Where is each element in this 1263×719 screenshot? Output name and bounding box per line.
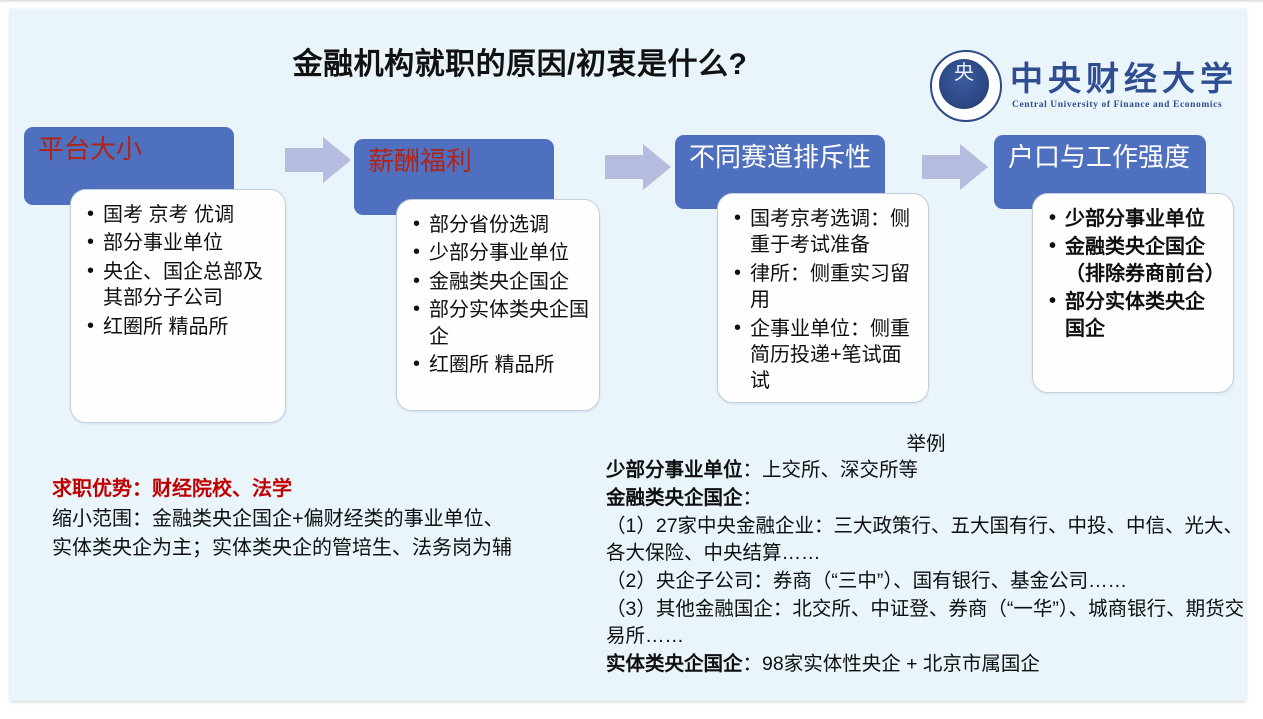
list-item: 金融类央企国企（排除券商前台） — [1065, 234, 1223, 287]
flow-card-4: 户口与工作强度 少部分事业单位 金融类央企国企（排除券商前台） 部分实体类央企国… — [994, 135, 1234, 401]
examples-row-final-text: ：98家实体性央企 + 北京市属国企 — [743, 653, 1040, 675]
examples-row-final: 实体类央企国企：98家实体性央企 + 北京市属国企 — [606, 651, 1246, 679]
examples-row-2: 金融类央企国企： — [606, 485, 1246, 513]
list-item: 律所：侧重实习留用 — [750, 261, 918, 314]
list-item: 企事业单位：侧重简历投递+笔试面试 — [750, 316, 918, 395]
examples-row-1: 少部分事业单位：上交所、深交所等 — [606, 457, 1246, 485]
list-item: 少部分事业单位 — [1065, 206, 1223, 232]
list-item: 国考京考选调：侧重于考试准备 — [750, 206, 918, 259]
advantage-body: 缩小范围：金融类央企国企+偏财经类的事业单位、 实体类央企为主；实体类央企的管培… — [52, 505, 612, 563]
university-logo: 央 中央财经大学 Central University of Finance a… — [930, 50, 1240, 122]
arrow-shaft — [922, 155, 962, 179]
examples-row-1-label: 少部分事业单位 — [606, 459, 743, 481]
examples-numbered-1: （1）27家中央金融企业：三大政策行、五大国有行、中投、中信、光大、各大保险、中… — [606, 513, 1246, 568]
university-seal-icon: 央 — [930, 50, 1002, 122]
seal-glyph: 央 — [932, 62, 996, 82]
flow-card-3-list: 国考京考选调：侧重于考试准备 律所：侧重实习留用 企事业单位：侧重简历投递+笔试… — [728, 206, 918, 395]
examples-numbered-2: （2）央企子公司：券商（“三中”）、国有银行、基金公司…… — [606, 568, 1246, 596]
examples-row-2-text: ： — [743, 487, 763, 509]
arrow-3-icon — [922, 144, 988, 190]
flow-card-1-list: 国考 京考 优调 部分事业单位 央企、国企总部及其部分子公司 红圈所 精品所 — [81, 202, 275, 340]
examples-row-1-text: ：上交所、深交所等 — [743, 459, 919, 481]
flow-card-3: 不同赛道排斥性 国考京考选调：侧重于考试准备 律所：侧重实习留用 企事业单位：侧… — [675, 135, 929, 403]
list-item: 部分省份选调 — [429, 212, 589, 238]
examples-heading: 举例 — [606, 431, 1246, 457]
arrow-1-icon — [285, 137, 351, 183]
flow-card-2-body: 部分省份选调 少部分事业单位 金融类央企国企 部分实体类央企国企 红圈所 精品所 — [396, 199, 600, 411]
flow-card-4-list: 少部分事业单位 金融类央企国企（排除券商前台） 部分实体类央企国企 — [1043, 206, 1223, 342]
list-item: 红圈所 精品所 — [429, 352, 589, 378]
advantage-title: 求职优势：财经院校、法学 — [52, 475, 612, 504]
university-name-en: Central University of Finance and Econom… — [1012, 100, 1222, 110]
advantage-body-line-2: 实体类央企为主；实体类央企的管培生、法务岗为辅 — [52, 534, 612, 563]
examples-numbered-3: （3）其他金融国企：北交所、中证登、券商（“一华”）、城商银行、期货交易所…… — [606, 596, 1246, 651]
flow-card-2-list: 部分省份选调 少部分事业单位 金融类央企国企 部分实体类央企国企 红圈所 精品所 — [407, 212, 589, 378]
list-item: 央企、国企总部及其部分子公司 — [103, 259, 275, 312]
list-item: 部分事业单位 — [103, 230, 275, 256]
arrow-head — [643, 144, 671, 190]
arrow-shaft — [605, 155, 645, 179]
examples-row-final-label: 实体类央企国企 — [606, 653, 743, 675]
examples-row-2-label: 金融类央企国企 — [606, 487, 743, 509]
flow-card-1: 平台大小 国考 京考 优调 部分事业单位 央企、国企总部及其部分子公司 红圈所 … — [24, 127, 286, 413]
flow-card-1-body: 国考 京考 优调 部分事业单位 央企、国企总部及其部分子公司 红圈所 精品所 — [70, 189, 286, 423]
page-title: 金融机构就职的原因/初衷是什么? — [10, 39, 1030, 83]
list-item: 部分实体类央企国企 — [1065, 289, 1223, 342]
list-item: 部分实体类央企国企 — [429, 297, 589, 350]
slide-frame: 金融机构就职的原因/初衷是什么? 央 中央财经大学 Central Univer… — [0, 0, 1263, 719]
flow-card-2: 薪酬福利 部分省份选调 少部分事业单位 金融类央企国企 部分实体类央企国企 红圈… — [354, 139, 600, 411]
list-item: 红圈所 精品所 — [103, 314, 275, 340]
examples-block: 举例 少部分事业单位：上交所、深交所等 金融类央企国企： （1）27家中央金融企… — [606, 431, 1246, 679]
advantage-block: 求职优势：财经院校、法学 缩小范围：金融类央企国企+偏财经类的事业单位、 实体类… — [52, 475, 612, 563]
arrow-head — [323, 137, 351, 183]
arrow-head — [960, 144, 988, 190]
list-item: 金融类央企国企 — [429, 269, 589, 295]
advantage-body-line-1: 缩小范围：金融类央企国企+偏财经类的事业单位、 — [52, 505, 612, 534]
flow-card-4-body: 少部分事业单位 金融类央企国企（排除券商前台） 部分实体类央企国企 — [1032, 193, 1234, 393]
university-name-cn: 中央财经大学 — [1010, 52, 1238, 100]
list-item: 国考 京考 优调 — [103, 202, 275, 228]
arrow-2-icon — [605, 144, 671, 190]
list-item: 少部分事业单位 — [429, 240, 589, 266]
arrow-shaft — [285, 148, 325, 172]
flow-card-3-body: 国考京考选调：侧重于考试准备 律所：侧重实习留用 企事业单位：侧重简历投递+笔试… — [717, 193, 929, 403]
slide-canvas: 金融机构就职的原因/初衷是什么? 央 中央财经大学 Central Univer… — [10, 9, 1246, 701]
